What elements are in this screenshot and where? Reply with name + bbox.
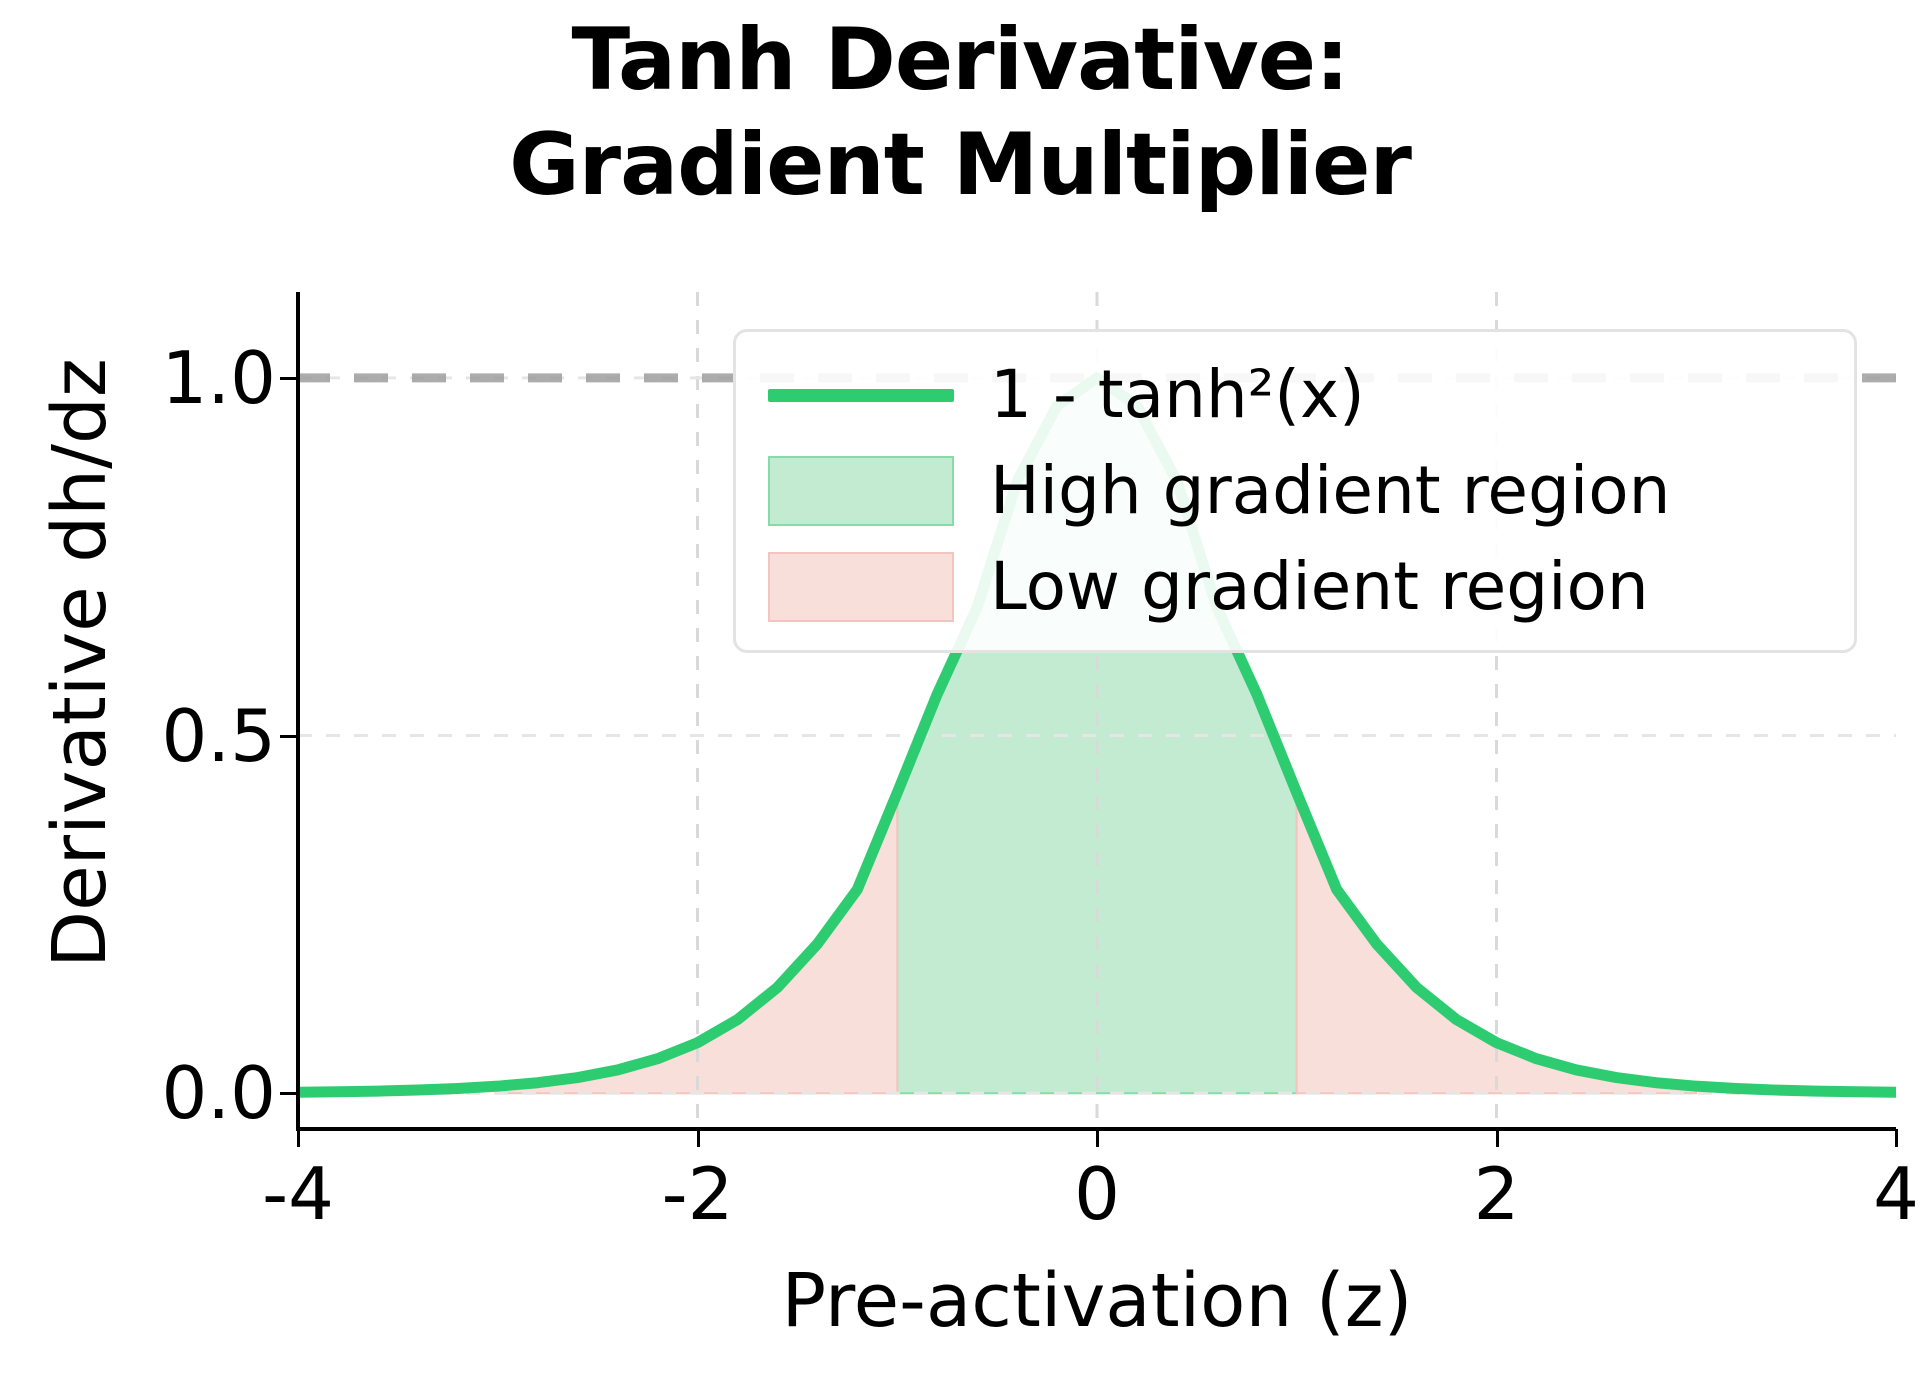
y-tick-label: 1.0	[161, 336, 276, 420]
x-tick	[1895, 1129, 1898, 1147]
x-tick	[1496, 1129, 1499, 1147]
legend-label: High gradient region	[990, 458, 1670, 524]
legend-label: 1 - tanh²(x)	[990, 362, 1365, 428]
y-tick-label: 0.0	[161, 1051, 276, 1135]
x-axis-label: Pre-activation (z)	[298, 1258, 1896, 1344]
legend-patch-swatch-high	[766, 454, 956, 528]
x-tick-label: -2	[662, 1152, 734, 1236]
y-axis-spine	[296, 292, 300, 1129]
page-title: Tanh Derivative: Gradient Multiplier	[0, 8, 1920, 218]
legend-item-high-gradient[interactable]: High gradient region	[766, 454, 1824, 528]
x-tick-label: -4	[262, 1152, 334, 1236]
x-tick-label: 4	[1873, 1152, 1919, 1236]
x-tick-label: 0	[1074, 1152, 1120, 1236]
legend-line-swatch	[766, 358, 956, 432]
x-tick-label: 2	[1474, 1152, 1520, 1236]
chart-figure: Tanh Derivative: Gradient Multiplier -4-…	[0, 0, 1920, 1380]
chart-legend[interactable]: 1 - tanh²(x) High gradient region Low gr…	[733, 329, 1857, 653]
x-tick	[1096, 1129, 1099, 1147]
legend-label: Low gradient region	[990, 554, 1649, 620]
legend-patch-swatch-low	[766, 550, 956, 624]
x-tick	[697, 1129, 700, 1147]
y-axis-label: Derivative dh/dz	[37, 253, 123, 1073]
x-tick	[297, 1129, 300, 1147]
y-tick-label: 0.5	[161, 694, 276, 778]
y-tick	[280, 1092, 298, 1095]
legend-item-curve[interactable]: 1 - tanh²(x)	[766, 358, 1824, 432]
legend-item-low-gradient[interactable]: Low gradient region	[766, 550, 1824, 624]
y-tick	[280, 735, 298, 738]
y-tick	[280, 377, 298, 380]
